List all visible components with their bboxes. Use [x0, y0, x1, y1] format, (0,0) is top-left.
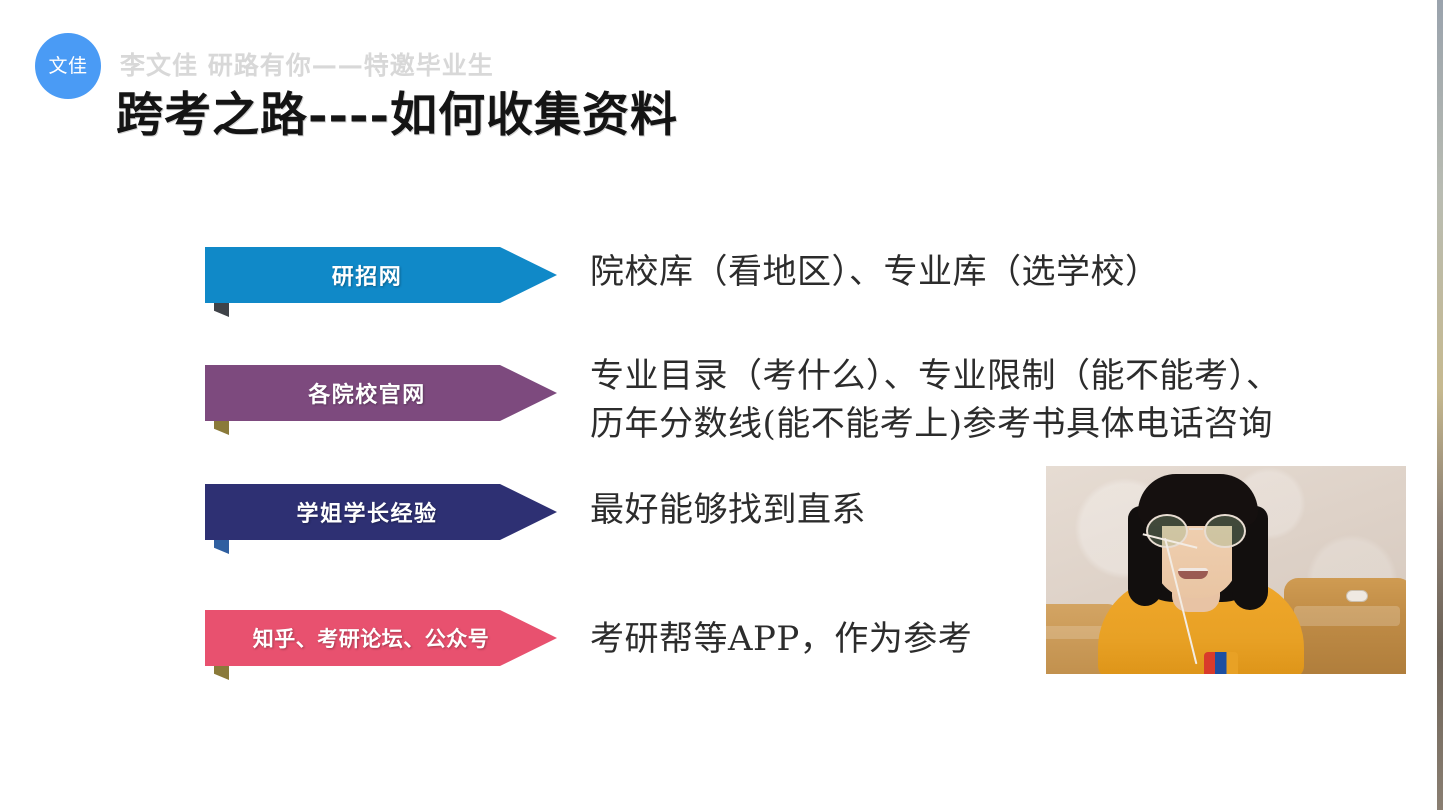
speaker-webcam-video[interactable]	[1046, 466, 1406, 674]
video-shirt-logo	[1204, 652, 1238, 674]
video-speaker-glasses	[1144, 514, 1248, 548]
banner-fold-tab	[214, 303, 229, 317]
glasses-lens-right	[1204, 514, 1246, 548]
row-body-text: 考研帮等APP，作为参考	[590, 615, 972, 663]
arrow-banner-1: 研招网	[205, 247, 557, 303]
glasses-bridge	[1189, 528, 1203, 530]
arrow-banner-shape: 各院校官网	[205, 365, 557, 421]
arrow-banner-3: 学姐学长经验	[205, 484, 557, 540]
content-rows: 研招网 院校库（看地区）、专业库（选学校） 各院校官网 专业目录（考什么）、专业…	[0, 0, 1443, 810]
arrow-banner-4: 知乎、考研论坛、公众号	[205, 610, 557, 666]
row-body-text: 最好能够找到直系	[590, 486, 866, 534]
arrow-banner-shape: 研招网	[205, 247, 557, 303]
arrow-banner-label: 各院校官网	[308, 377, 426, 409]
banner-fold-tab	[214, 540, 229, 554]
arrow-banner-2: 各院校官网	[205, 365, 557, 421]
video-chair-knob	[1346, 590, 1368, 602]
body-text-line: 最好能够找到直系	[590, 486, 866, 534]
right-edge-strip	[1437, 0, 1443, 810]
banner-fold-tab	[214, 666, 229, 680]
row-body-text: 专业目录（考什么）、专业限制（能不能考）、 历年分数线(能不能考上)参考书具体电…	[590, 352, 1281, 449]
arrow-banner-shape: 知乎、考研论坛、公众号	[205, 610, 557, 666]
presentation-slide: 文佳 李文佳 研路有你——特邀毕业生 跨考之路----如何收集资料 研招网 院校…	[0, 0, 1443, 810]
arrow-banner-label: 知乎、考研论坛、公众号	[253, 623, 490, 653]
banner-fold-tab	[214, 421, 229, 435]
arrow-banner-label: 学姐学长经验	[296, 496, 437, 528]
body-text-line: 历年分数线(能不能考上)参考书具体电话咨询	[590, 400, 1281, 448]
arrow-banner-label: 研招网	[332, 259, 403, 291]
row-body-text: 院校库（看地区）、专业库（选学校）	[590, 248, 1160, 296]
body-text-line: 院校库（看地区）、专业库（选学校）	[590, 248, 1160, 296]
body-text-line: 专业目录（考什么）、专业限制（能不能考）、	[590, 352, 1281, 400]
arrow-banner-shape: 学姐学长经验	[205, 484, 557, 540]
body-text-line: 考研帮等APP，作为参考	[590, 615, 972, 663]
video-speaker-mouth	[1178, 568, 1208, 579]
